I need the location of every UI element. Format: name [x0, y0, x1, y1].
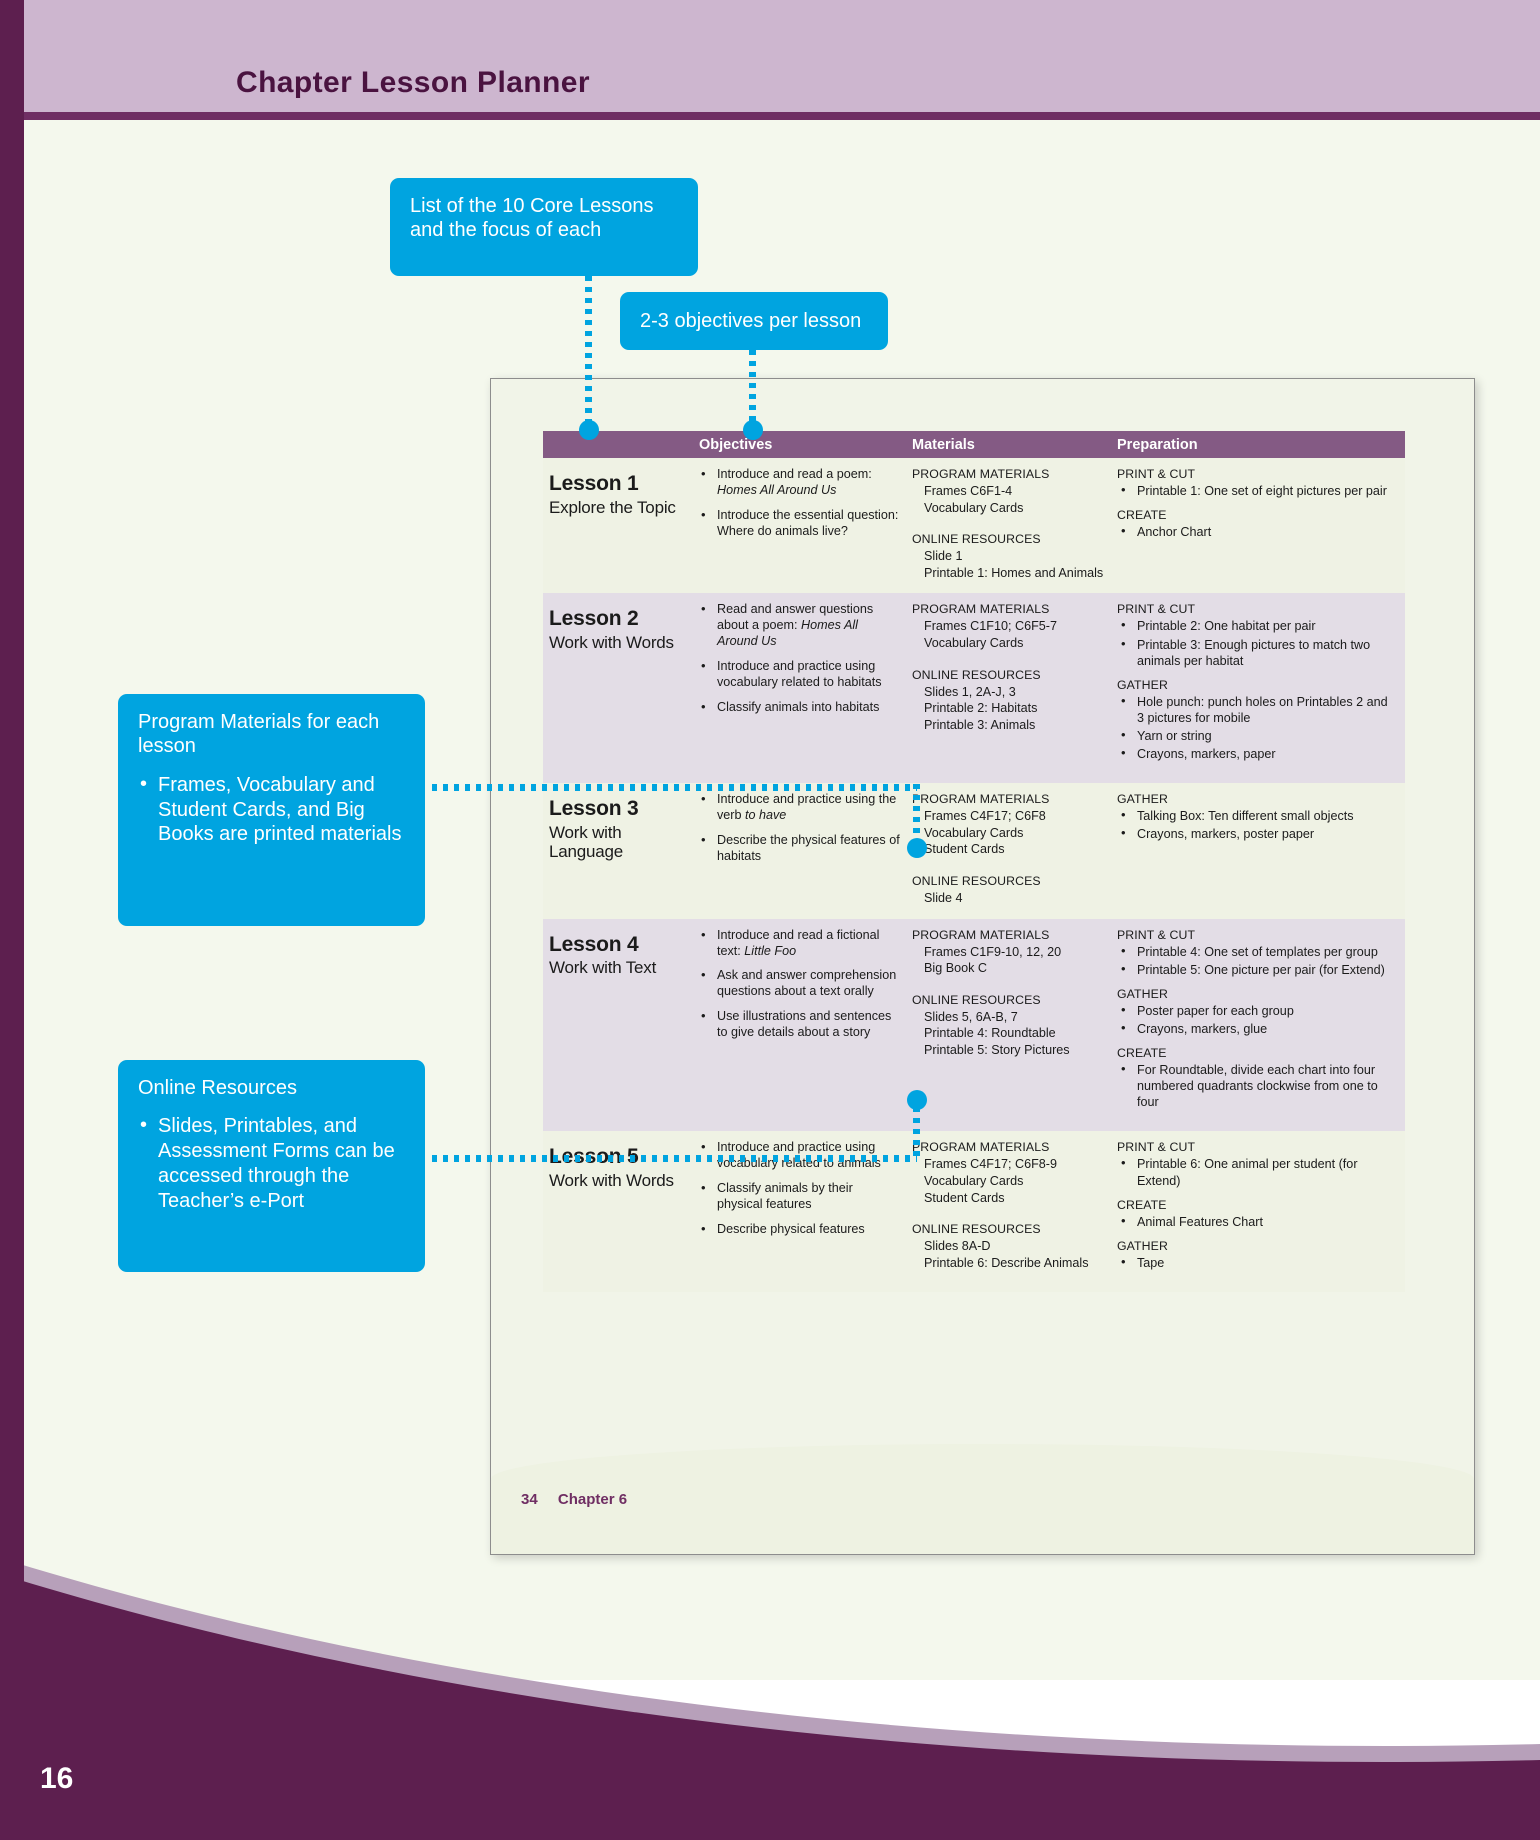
preparation-group-heading: GATHER [1117, 792, 1397, 806]
preparation-group-heading: PRINT & CUT [1117, 467, 1397, 481]
list-item: Slides, Printables, and Assessment Forms… [138, 1114, 405, 1213]
materials-item: Slide 4 [912, 890, 1105, 907]
list-item: Read and answer questions about a poem: … [699, 602, 900, 650]
callout-online-resources: Online Resources Slides, Printables, and… [118, 1060, 425, 1272]
objectives-list: Read and answer questions about a poem: … [699, 602, 900, 715]
preparation-list: Talking Box: Ten different small objects… [1117, 808, 1397, 842]
column-header-objectives: Objectives [695, 437, 908, 453]
connector-endpoint-objectives [743, 420, 763, 440]
preparation-list: Anchor Chart [1117, 524, 1397, 540]
lesson-focus: Explore the Topic [549, 498, 687, 517]
preparation-cell: PRINT & CUTPrintable 1: One set of eight… [1113, 458, 1405, 593]
preparation-list: Animal Features Chart [1117, 1214, 1397, 1230]
materials-item: Slides 1, 2A-J, 3 [912, 684, 1105, 701]
preparation-list: Printable 4: One set of templates per gr… [1117, 944, 1397, 978]
list-item: Printable 2: One habitat per pair [1117, 618, 1397, 634]
connector-endpoint-online-resources [907, 1090, 927, 1110]
callout-online-resources-title: Online Resources [138, 1076, 405, 1100]
list-item: Classify animals by their physical featu… [699, 1181, 900, 1213]
list-item: Printable 4: One set of templates per gr… [1117, 944, 1397, 960]
callout-program-materials: Program Materials for each lesson Frames… [118, 694, 425, 926]
list-item: Talking Box: Ten different small objects [1117, 808, 1397, 824]
list-item: For Roundtable, divide each chart into f… [1117, 1062, 1397, 1110]
list-item: Crayons, markers, glue [1117, 1021, 1397, 1037]
list-item: Describe the physical features of habita… [699, 833, 900, 865]
materials-item: Vocabulary Cards [912, 825, 1105, 842]
list-item: Animal Features Chart [1117, 1214, 1397, 1230]
list-item: Crayons, markers, paper [1117, 746, 1397, 762]
materials-item: Printable 2: Habitats [912, 700, 1105, 717]
objectives-cell: Introduce and read a fictional text: Lit… [695, 919, 908, 1132]
table-body: Lesson 1Explore the TopicIntroduce and r… [543, 458, 1405, 1292]
table-header-row: Objectives Materials Preparation [543, 431, 1405, 458]
table-row: Lesson 1Explore the TopicIntroduce and r… [543, 458, 1405, 593]
list-item: Use illustrations and sentences to give … [699, 1009, 900, 1041]
materials-group-heading: PROGRAM MATERIALS [912, 928, 1105, 942]
list-item: Poster paper for each group [1117, 1003, 1397, 1019]
list-item: Printable 6: One animal per student (for… [1117, 1156, 1397, 1188]
column-header-materials: Materials [908, 437, 1113, 453]
list-item: Introduce the essential question: Where … [699, 508, 900, 540]
materials-group-heading: ONLINE RESOURCES [912, 1222, 1105, 1236]
connector-endpoint-program-materials [907, 838, 927, 858]
lesson-cell: Lesson 3Work with Language [543, 783, 695, 918]
page-title: Chapter Lesson Planner [236, 66, 590, 100]
lesson-cell: Lesson 4Work with Text [543, 919, 695, 1132]
callout-program-materials-list: Frames, Vocabulary and Student Cards, an… [138, 773, 405, 847]
materials-group-heading: PROGRAM MATERIALS [912, 1140, 1105, 1154]
materials-item: Printable 4: Roundtable [912, 1025, 1105, 1042]
list-item: Ask and answer comprehension questions a… [699, 968, 900, 1000]
objectives-cell: Introduce and practice using the verb to… [695, 783, 908, 918]
materials-item: Slides 8A-D [912, 1238, 1105, 1255]
materials-group-heading: PROGRAM MATERIALS [912, 602, 1105, 616]
list-item: Printable 1: One set of eight pictures p… [1117, 483, 1397, 499]
lesson-cell: Lesson 1Explore the Topic [543, 458, 695, 593]
preparation-cell: PRINT & CUTPrintable 4: One set of templ… [1113, 919, 1405, 1132]
list-item: Printable 5: One picture per pair (for E… [1117, 962, 1397, 978]
list-item: Introduce and practice using vocabulary … [699, 659, 900, 691]
preparation-cell: GATHERTalking Box: Ten different small o… [1113, 783, 1405, 918]
materials-cell: PROGRAM MATERIALSFrames C6F1-4Vocabulary… [908, 458, 1113, 593]
lesson-focus: Work with Words [549, 633, 687, 652]
preparation-group-heading: CREATE [1117, 508, 1397, 522]
list-item: Yarn or string [1117, 728, 1397, 744]
objectives-list: Introduce and read a poem: Homes All Aro… [699, 467, 900, 539]
list-item: Printable 3: Enough pictures to match tw… [1117, 637, 1397, 669]
connector-program-materials-vertical [913, 784, 920, 844]
materials-group-heading: PROGRAM MATERIALS [912, 467, 1105, 481]
materials-cell: PROGRAM MATERIALSFrames C1F10; C6F5-7Voc… [908, 593, 1113, 783]
lesson-number: Lesson 2 [549, 607, 687, 631]
list-item: Classify animals into habitats [699, 700, 900, 716]
footer-wedge [0, 1420, 1540, 1840]
materials-item: Slide 1 [912, 548, 1105, 565]
preparation-list: Printable 6: One animal per student (for… [1117, 1156, 1397, 1188]
preparation-group-heading: PRINT & CUT [1117, 928, 1397, 942]
materials-item: Printable 1: Homes and Animals [912, 565, 1105, 582]
preparation-list: Printable 1: One set of eight pictures p… [1117, 483, 1397, 499]
list-item: Frames, Vocabulary and Student Cards, an… [138, 773, 405, 847]
list-item: Introduce and read a poem: Homes All Aro… [699, 467, 900, 499]
preparation-group-heading: CREATE [1117, 1046, 1397, 1060]
lesson-focus: Work with Text [549, 958, 687, 977]
preparation-group-heading: GATHER [1117, 987, 1397, 1001]
materials-item: Printable 6: Describe Animals [912, 1255, 1105, 1272]
preparation-cell: PRINT & CUTPrintable 6: One animal per s… [1113, 1131, 1405, 1291]
materials-cell: PROGRAM MATERIALSFrames C4F17; C6F8-9Voc… [908, 1131, 1113, 1291]
lesson-cell: Lesson 2Work with Words [543, 593, 695, 783]
list-item: Anchor Chart [1117, 524, 1397, 540]
materials-item: Frames C6F1-4 [912, 483, 1105, 500]
table-row: Lesson 4Work with TextIntroduce and read… [543, 919, 1405, 1132]
callout-objectives: 2-3 objectives per lesson [620, 292, 888, 350]
list-item: Tape [1117, 1255, 1397, 1271]
objectives-list: Introduce and practice using the verb to… [699, 792, 900, 864]
list-item: Introduce and read a fictional text: Lit… [699, 928, 900, 960]
preparation-list: Hole punch: punch holes on Printables 2 … [1117, 694, 1397, 762]
materials-group-heading: ONLINE RESOURCES [912, 668, 1105, 682]
materials-group-heading: ONLINE RESOURCES [912, 874, 1105, 888]
preparation-group-heading: PRINT & CUT [1117, 602, 1397, 616]
materials-cell: PROGRAM MATERIALSFrames C1F9-10, 12, 20B… [908, 919, 1113, 1132]
materials-item: Frames C1F10; C6F5-7 [912, 618, 1105, 635]
materials-item: Student Cards [912, 1190, 1105, 1207]
list-item: Introduce and practice using the verb to… [699, 792, 900, 824]
callout-core-lessons-title: List of the 10 Core Lessons and the focu… [410, 194, 678, 243]
objectives-cell: Read and answer questions about a poem: … [695, 593, 908, 783]
materials-item: Student Cards [912, 841, 1105, 858]
table-row: Lesson 2Work with WordsRead and answer q… [543, 593, 1405, 783]
callout-online-resources-list: Slides, Printables, and Assessment Forms… [138, 1114, 405, 1213]
table-row: Lesson 3Work with LanguageIntroduce and … [543, 783, 1405, 918]
header-rule [0, 112, 1540, 120]
connector-program-materials-horizontal [432, 784, 917, 791]
materials-item: Frames C1F9-10, 12, 20 [912, 944, 1105, 961]
book-page-card: 34 Chapter 6 Objectives Materials Prepar… [490, 378, 1475, 1555]
header-band [0, 0, 1540, 112]
preparation-list: Printable 2: One habitat per pairPrintab… [1117, 618, 1397, 668]
materials-item: Big Book C [912, 960, 1105, 977]
preparation-group-heading: GATHER [1117, 1239, 1397, 1253]
left-spine [0, 0, 24, 1840]
connector-core-lessons [585, 276, 592, 428]
page-root: Chapter Lesson Planner 16 34 Chapter 6 O… [0, 0, 1540, 1840]
preparation-group-heading: CREATE [1117, 1198, 1397, 1212]
materials-item: Vocabulary Cards [912, 635, 1105, 652]
materials-item: Vocabulary Cards [912, 1173, 1105, 1190]
lesson-number: Lesson 3 [549, 797, 687, 821]
materials-item: Frames C4F17; C6F8 [912, 808, 1105, 825]
preparation-list: Poster paper for each groupCrayons, mark… [1117, 1003, 1397, 1037]
lesson-focus: Work with Words [549, 1171, 687, 1190]
materials-cell: PROGRAM MATERIALSFrames C4F17; C6F8Vocab… [908, 783, 1113, 918]
materials-item: Vocabulary Cards [912, 500, 1105, 517]
preparation-group-heading: PRINT & CUT [1117, 1140, 1397, 1154]
materials-item: Slides 5, 6A-B, 7 [912, 1009, 1105, 1026]
materials-group-heading: PROGRAM MATERIALS [912, 792, 1105, 806]
list-item: Describe physical features [699, 1222, 900, 1238]
list-item: Hole punch: punch holes on Printables 2 … [1117, 694, 1397, 726]
lesson-number: Lesson 1 [549, 472, 687, 496]
preparation-list: For Roundtable, divide each chart into f… [1117, 1062, 1397, 1110]
column-header-preparation: Preparation [1113, 437, 1405, 453]
connector-online-resources-horizontal [432, 1155, 917, 1162]
callout-core-lessons: List of the 10 Core Lessons and the focu… [390, 178, 698, 276]
preparation-cell: PRINT & CUTPrintable 2: One habitat per … [1113, 593, 1405, 783]
preparation-group-heading: GATHER [1117, 678, 1397, 692]
materials-item: Printable 3: Animals [912, 717, 1105, 734]
lesson-focus: Work with Language [549, 823, 687, 861]
lesson-planner-table: Objectives Materials Preparation Lesson … [543, 431, 1405, 1292]
list-item: Crayons, markers, poster paper [1117, 826, 1397, 842]
lesson-number: Lesson 4 [549, 933, 687, 957]
page-number: 16 [40, 1762, 73, 1796]
callout-program-materials-title: Program Materials for each lesson [138, 710, 405, 759]
connector-endpoint-core-lessons [579, 420, 599, 440]
materials-item: Printable 5: Story Pictures [912, 1042, 1105, 1059]
materials-group-heading: ONLINE RESOURCES [912, 532, 1105, 546]
objectives-cell: Introduce and read a poem: Homes All Aro… [695, 458, 908, 593]
materials-item: Frames C4F17; C6F8-9 [912, 1156, 1105, 1173]
connector-objectives [749, 350, 756, 428]
materials-group-heading: ONLINE RESOURCES [912, 993, 1105, 1007]
objectives-list: Introduce and read a fictional text: Lit… [699, 928, 900, 1041]
preparation-list: Tape [1117, 1255, 1397, 1271]
callout-objectives-title: 2-3 objectives per lesson [640, 309, 861, 333]
